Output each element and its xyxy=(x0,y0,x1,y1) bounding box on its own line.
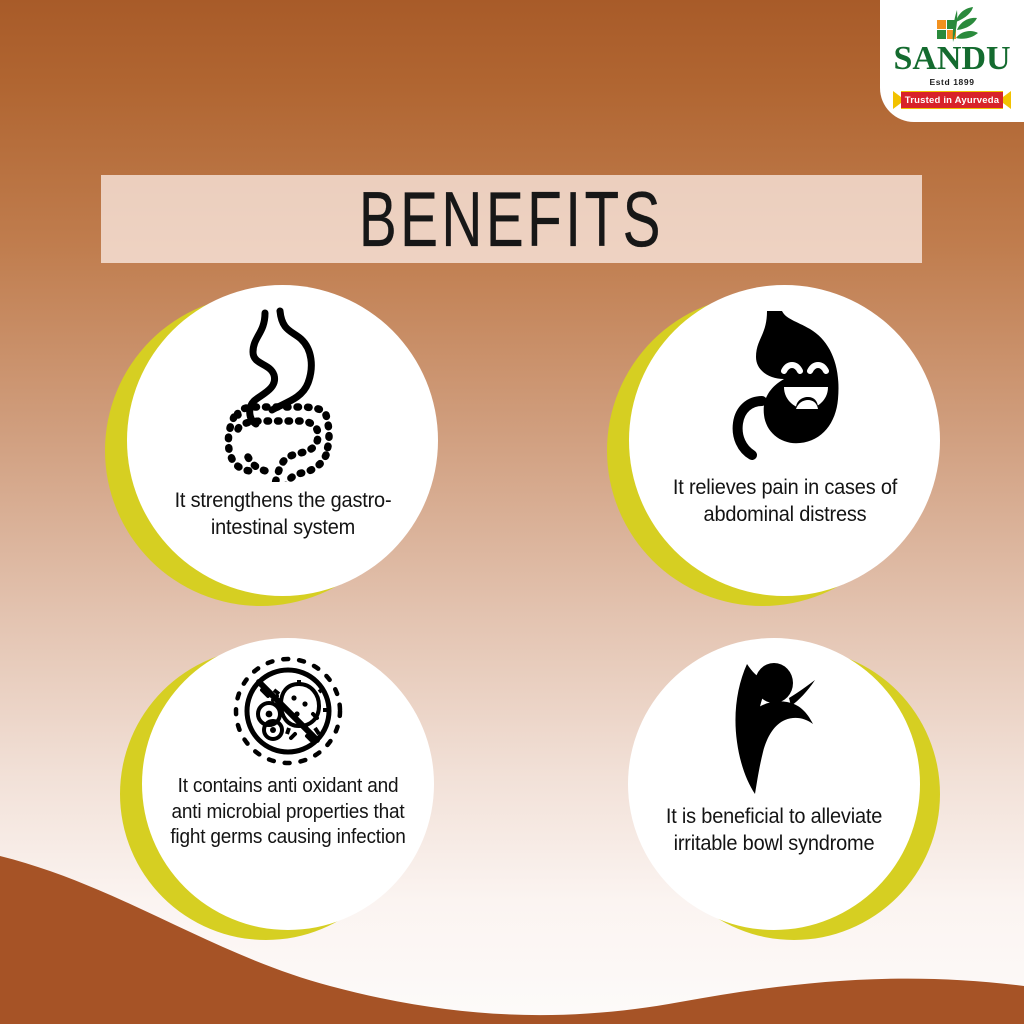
brand-tagline: Trusted in Ayurveda xyxy=(887,88,1017,112)
benefit-disc: It contains anti oxidant and anti microb… xyxy=(142,638,434,930)
happy-stomach-icon xyxy=(710,305,860,465)
benefit-caption: It strengthens the gastro-intestinal sys… xyxy=(164,488,402,542)
brand-wordmark: SANDU xyxy=(893,42,1010,76)
brand-logo: SANDU Estd 1899 Trusted in Ayurveda xyxy=(880,0,1024,122)
benefit-caption: It is beneficial to alleviate irritable … xyxy=(660,804,888,858)
infographic-canvas: SANDU Estd 1899 Trusted in Ayurveda BENE… xyxy=(0,0,1024,1024)
benefit-card-irritable-bowel[interactable]: It is beneficial to alleviate irritable … xyxy=(628,638,958,938)
benefit-card-abdominal-distress[interactable]: It relieves pain in cases of abdominal d… xyxy=(607,285,957,600)
page-title: BENEFITS xyxy=(359,174,664,264)
benefit-disc: It strengthens the gastro-intestinal sys… xyxy=(127,285,438,596)
stomach-intestine-icon xyxy=(208,307,358,482)
benefit-card-gastro-intestinal[interactable]: It strengthens the gastro-intestinal sys… xyxy=(105,285,455,600)
benefit-disc: It is beneficial to alleviate irritable … xyxy=(628,638,920,930)
benefit-caption: It relieves pain in cases of abdominal d… xyxy=(661,475,908,529)
brand-ribbon: Trusted in Ayurveda xyxy=(887,88,1017,112)
celebrating-person-icon xyxy=(719,658,829,798)
benefit-disc: It relieves pain in cases of abdominal d… xyxy=(629,285,940,596)
no-germs-icon xyxy=(229,652,347,770)
benefit-card-anti-microbial[interactable]: It contains anti oxidant and anti microb… xyxy=(120,638,450,938)
brand-established: Estd 1899 xyxy=(929,77,974,87)
benefit-caption: It contains anti oxidant and anti microb… xyxy=(168,774,407,851)
title-banner: BENEFITS xyxy=(101,175,922,263)
